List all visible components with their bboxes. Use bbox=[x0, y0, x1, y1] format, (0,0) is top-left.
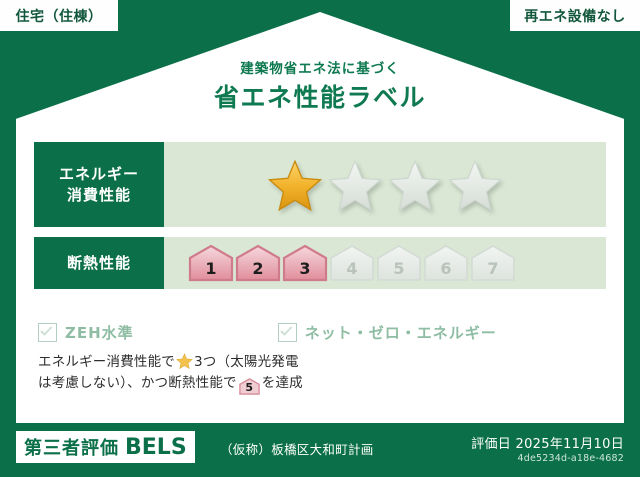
zeh-standard-label: ZEH水準 bbox=[65, 322, 134, 343]
star-icon-empty-4 bbox=[448, 159, 502, 211]
performance-rows: エネルギー 消費性能 bbox=[34, 142, 606, 299]
row-energy-performance: エネルギー 消費性能 bbox=[34, 142, 606, 227]
evaluation-date-label: 評価日 bbox=[471, 437, 511, 452]
footer-bar: 第三者評価 BELS （仮称）板橋区大和町計画 評価日 2025年11月10日 … bbox=[0, 423, 640, 477]
evaluation-id: 4de5234d-a18e-4682 bbox=[517, 453, 624, 464]
grade-chip-4-value: 4 bbox=[346, 259, 357, 278]
label-subtitle: 建築物省エネ法に基づく bbox=[16, 57, 624, 77]
grade-chip-5: 5 bbox=[376, 244, 422, 282]
grade-chip-2-value: 2 bbox=[252, 259, 263, 278]
bels-badge-en: BELS bbox=[125, 435, 187, 460]
net-zero-energy-label: ネット・ゼロ・エネルギー bbox=[305, 322, 497, 343]
check-icon bbox=[40, 325, 53, 338]
star-icon-inline bbox=[176, 353, 193, 369]
page-title: 省エネ性能ラベル bbox=[16, 78, 624, 114]
row-insulation-performance: 断熱性能 1 bbox=[34, 237, 606, 289]
grade-chip-list: 1 2 3 bbox=[188, 244, 517, 282]
grade-chip-5-value: 5 bbox=[393, 259, 404, 278]
row-energy-label-line1: エネルギー bbox=[59, 164, 139, 184]
grade-chip-2: 2 bbox=[235, 244, 281, 282]
grade-chip-4: 4 bbox=[329, 244, 375, 282]
check-icon bbox=[280, 325, 293, 338]
grade-chip-6-value: 6 bbox=[440, 259, 451, 278]
zeh-description-part-a: エネルギー消費性能で bbox=[38, 354, 175, 370]
grade-chip-3-value: 3 bbox=[299, 259, 310, 278]
zeh-section: ZEH水準 ネット・ゼロ・エネルギー エネルギー消費性能で3つ（太陽光発電 は考… bbox=[38, 322, 602, 395]
net-zero-energy-group: ネット・ゼロ・エネルギー bbox=[278, 322, 497, 343]
zeh-description-part-b: は考慮しない）、かつ断熱性能で bbox=[38, 375, 237, 391]
star-icon-empty-2 bbox=[328, 159, 382, 211]
zeh-standard-group: ZEH水準 bbox=[38, 322, 134, 343]
star-icon-empty-3 bbox=[388, 159, 442, 211]
zeh-headings: ZEH水準 ネット・ゼロ・エネルギー bbox=[38, 322, 602, 343]
bels-badge: 第三者評価 BELS bbox=[16, 431, 195, 463]
net-zero-energy-checkbox[interactable] bbox=[278, 323, 297, 342]
grade-chip-1-value: 1 bbox=[205, 259, 216, 278]
project-name: （仮称）板橋区大和町計画 bbox=[220, 439, 374, 458]
tag-building-type: 住宅（住棟） bbox=[0, 0, 118, 31]
grade-chip-3: 3 bbox=[282, 244, 328, 282]
zeh-description-star-count: 3つ（太陽光発電 bbox=[194, 354, 299, 370]
row-insulation-label-line1: 断熱性能 bbox=[67, 253, 131, 273]
grade-chip-1: 1 bbox=[188, 244, 234, 282]
grade-chip-inline: 5 bbox=[239, 378, 260, 395]
evaluation-date-value: 2025年11月10日 bbox=[516, 437, 624, 452]
star-icon-filled-1 bbox=[268, 159, 322, 211]
grade-chip-7: 7 bbox=[470, 244, 516, 282]
star-rating bbox=[164, 142, 606, 227]
row-energy-label-line2: 消費性能 bbox=[67, 185, 131, 205]
zeh-standard-checkbox[interactable] bbox=[38, 323, 57, 342]
grade-chip-7-value: 7 bbox=[487, 259, 498, 278]
bels-badge-jp: 第三者評価 bbox=[24, 434, 119, 460]
evaluation-date: 評価日 2025年11月10日 bbox=[471, 433, 624, 452]
zeh-description: エネルギー消費性能で3つ（太陽光発電 は考慮しない）、かつ断熱性能で5を達成 bbox=[38, 352, 602, 395]
tag-renewable-equipment: 再エネ設備なし bbox=[510, 0, 640, 31]
grade-chip-inline-value: 5 bbox=[239, 378, 260, 398]
zeh-description-part-c: を達成 bbox=[262, 375, 303, 391]
insulation-grade-scale: 1 2 3 bbox=[164, 237, 606, 289]
grade-chip-6: 6 bbox=[423, 244, 469, 282]
bels-energy-label: 住宅（住棟） 再エネ設備なし 建築物省エネ法に基づく 省エネ性能ラベル エネルギ… bbox=[0, 0, 640, 477]
label-content: 建築物省エネ法に基づく 省エネ性能ラベル エネルギー 消費性能 bbox=[16, 12, 624, 423]
row-insulation-label: 断熱性能 bbox=[34, 237, 164, 289]
row-energy-label: エネルギー 消費性能 bbox=[34, 142, 164, 227]
